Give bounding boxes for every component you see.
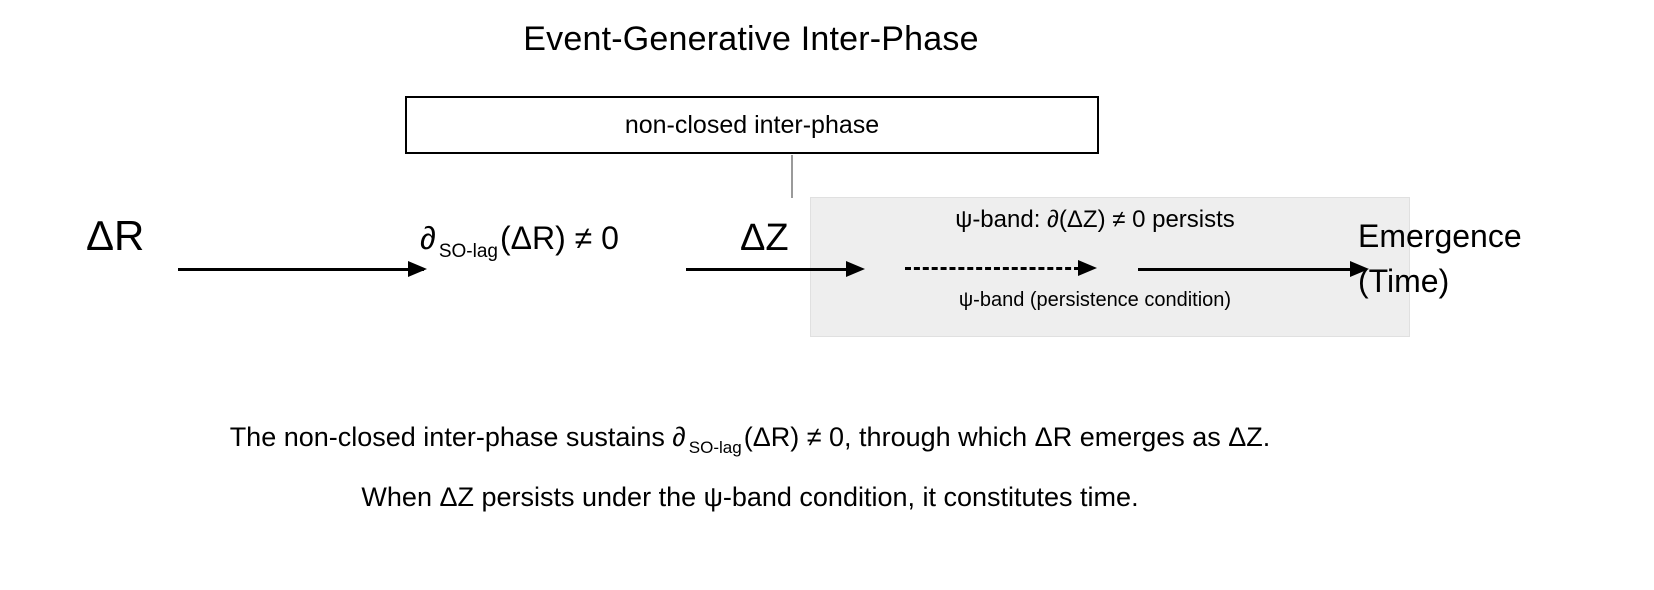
arrowhead-icon-dashed: [1078, 260, 1097, 276]
box-to-band-connector-line: [791, 155, 793, 198]
page-title: Event-Generative Inter-Phase: [0, 20, 1654, 59]
caption-line1-subscript: SO-lag: [686, 438, 744, 457]
diagram-canvas: Event-Generative Inter-Phase non-closed …: [0, 0, 1654, 590]
so-lag-operator-formula: ∂SO-lag(ΔR) ≠ 0: [420, 222, 619, 261]
arrowhead-icon-2: [846, 261, 865, 277]
delta-z-label: ΔZ: [740, 219, 789, 257]
dashed-persistence-arrow: [905, 267, 1080, 270]
psi-band-bottom-label: ψ-band (persistence condition): [810, 289, 1380, 312]
partial-derivative-symbol: ∂: [420, 220, 436, 256]
arrow-operator-to-delta-z: [686, 268, 852, 271]
delta-r-label: ΔR: [86, 215, 144, 257]
emergence-label-line1: Emergence: [1358, 214, 1522, 259]
non-closed-inter-phase-box: non-closed inter-phase: [405, 96, 1099, 154]
caption-line1-part1: The non-closed inter-phase sustains ∂: [230, 422, 686, 452]
caption-line1-part2: (ΔR) ≠ 0, through which ΔR emerges as ΔZ…: [744, 422, 1271, 452]
caption-line-1: The non-closed inter-phase sustains ∂SO-…: [0, 422, 1500, 458]
caption-line-2: When ΔZ persists under the ψ-band condit…: [0, 482, 1500, 513]
emergence-label: Emergence (Time): [1358, 214, 1522, 305]
operator-argument: (ΔR) ≠ 0: [500, 220, 619, 256]
psi-band-top-label: ψ-band: ∂(ΔZ) ≠ 0 persists: [810, 206, 1380, 234]
arrow-delta-r-to-operator: [178, 268, 424, 271]
arrow-band-to-emergence: [1138, 268, 1356, 271]
so-lag-subscript: SO-lag: [436, 241, 500, 262]
arrowhead-icon-1: [408, 261, 427, 277]
non-closed-inter-phase-label: non-closed inter-phase: [625, 111, 879, 140]
page-title-text: Event-Generative Inter-Phase: [523, 20, 978, 59]
emergence-label-line2: (Time): [1358, 259, 1522, 304]
